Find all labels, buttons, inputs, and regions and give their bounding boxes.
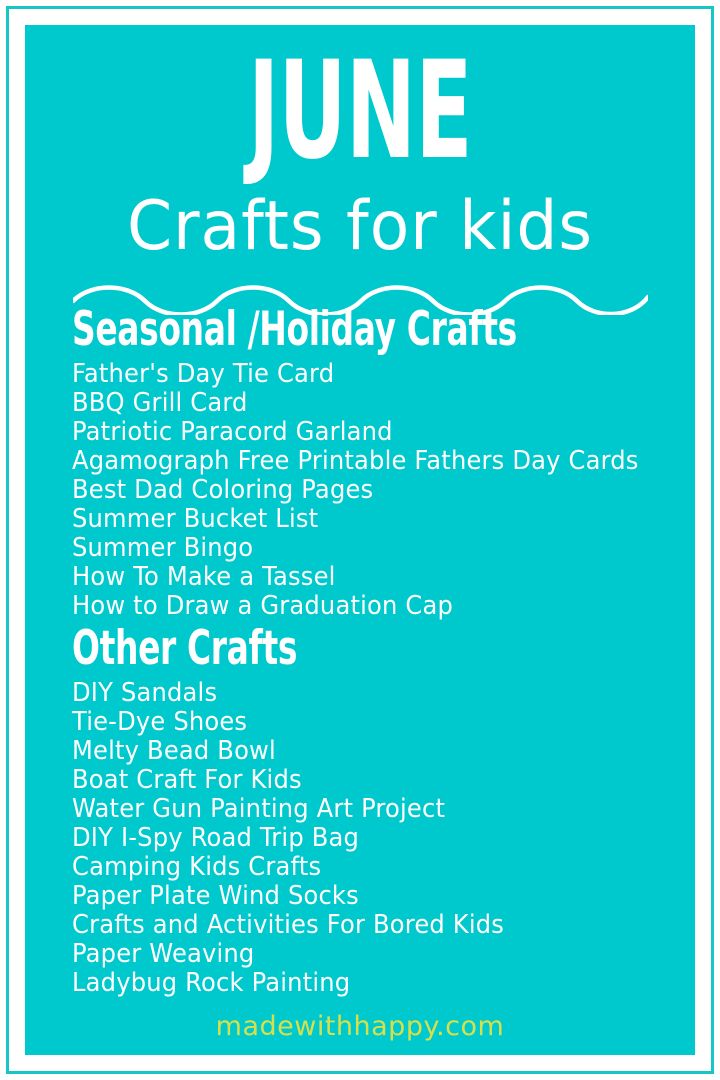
list-item: How to Draw a Graduation Cap [72,592,639,621]
list-item: Best Dad Coloring Pages [72,476,639,505]
section-heading-other: Other Crafts [72,625,499,672]
section-heading-seasonal: Seasonal /Holiday Crafts [72,306,499,353]
list-item: How To Make a Tassel [72,563,639,592]
list-item: DIY I-Spy Road Trip Bag [72,824,639,853]
list-item: Summer Bucket List [72,505,639,534]
list-item: Agamograph Free Printable Fathers Day Ca… [72,447,639,476]
poster-panel: JUNE Crafts for kids Seasonal /Holiday C… [25,25,695,1055]
list-item: Crafts and Activities For Bored Kids [72,911,639,940]
poster-pin: JUNE Crafts for kids Seasonal /Holiday C… [0,0,720,1080]
list-item: Patriotic Paracord Garland [72,418,639,447]
list-item: BBQ Grill Card [72,389,639,418]
list-item: Ladybug Rock Painting [72,969,639,998]
list-item: Paper Plate Wind Socks [72,882,639,911]
site-watermark: madewithhappy.com [25,1013,695,1040]
page-subtitle: Crafts for kids [42,193,679,261]
section-other-crafts: Other Crafts DIY Sandals Tie-Dye Shoes M… [72,625,682,998]
list-item: Father's Day Tie Card [72,360,639,389]
page-title-month: JUNE [152,43,567,178]
list-item: Summer Bingo [72,534,639,563]
list-item: Melty Bead Bowl [72,737,639,766]
list-item: DIY Sandals [72,679,639,708]
list-item: Paper Weaving [72,940,639,969]
list-item: Tie-Dye Shoes [72,708,639,737]
craft-list-seasonal: Father's Day Tie Card BBQ Grill Card Pat… [72,360,682,621]
section-seasonal-holiday-crafts: Seasonal /Holiday Crafts Father's Day Ti… [72,306,682,621]
craft-list-other: DIY Sandals Tie-Dye Shoes Melty Bead Bow… [72,679,682,998]
list-item: Boat Craft For Kids [72,766,639,795]
list-item: Camping Kids Crafts [72,853,639,882]
list-item: Water Gun Painting Art Project [72,795,639,824]
